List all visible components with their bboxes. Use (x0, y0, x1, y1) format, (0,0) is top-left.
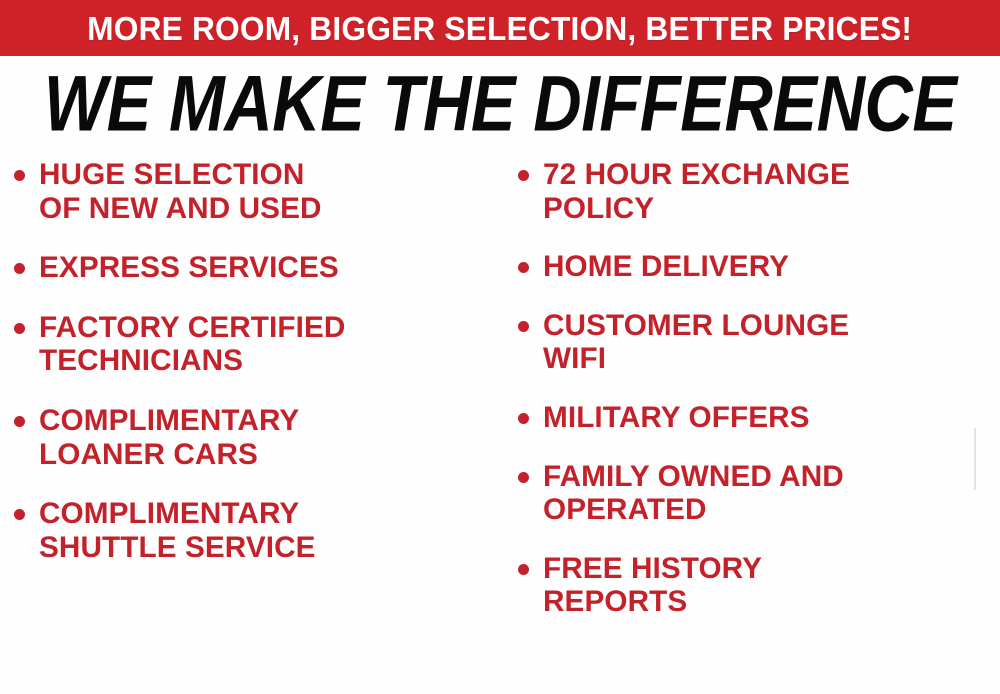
list-item-label: COMPLIMENTARY SHUTTLE SERVICE (39, 497, 495, 564)
bullet-dot-icon (14, 263, 25, 274)
bullet-dot-icon (14, 170, 25, 181)
benefits-column-left: HUGE SELECTION OF NEW AND USED EXPRESS S… (14, 158, 500, 694)
advertisement-root: MORE ROOM, BIGGER SELECTION, BETTER PRIC… (0, 0, 1000, 694)
bullet-dot-icon (14, 416, 25, 427)
bullet-dot-icon (518, 564, 529, 575)
benefits-column-right: 72 HOUR EXCHANGE POLICY HOME DELIVERY CU… (518, 158, 996, 694)
bullet-dot-icon (518, 472, 529, 483)
list-item: FACTORY CERTIFIED TECHNICIANS (14, 311, 500, 378)
bullet-dot-icon (14, 323, 25, 334)
list-item: HOME DELIVERY (518, 250, 996, 284)
list-item: COMPLIMENTARY LOANER CARS (14, 404, 500, 471)
list-item-label: FACTORY CERTIFIED TECHNICIANS (39, 311, 495, 378)
list-item-label: COMPLIMENTARY LOANER CARS (39, 404, 495, 471)
scan-artifact (974, 428, 976, 490)
bullet-dot-icon (14, 509, 25, 520)
list-item-label: 72 HOUR EXCHANGE POLICY (543, 158, 991, 225)
bullet-dot-icon (518, 321, 529, 332)
list-item: MILITARY OFFERS (518, 401, 996, 435)
benefits-columns: HUGE SELECTION OF NEW AND USED EXPRESS S… (0, 158, 1000, 694)
list-item-label: HOME DELIVERY (543, 250, 991, 284)
list-item-label: MILITARY OFFERS (543, 401, 991, 435)
promo-banner-text: MORE ROOM, BIGGER SELECTION, BETTER PRIC… (88, 12, 913, 45)
list-item: CUSTOMER LOUNGE WIFI (518, 309, 996, 376)
bullet-dot-icon (518, 413, 529, 424)
list-item: EXPRESS SERVICES (14, 251, 500, 285)
bullet-dot-icon (518, 170, 529, 181)
headline-container: WE MAKE THE DIFFERENCE (0, 66, 1000, 142)
list-item: HUGE SELECTION OF NEW AND USED (14, 158, 500, 225)
list-item: FREE HISTORY REPORTS (518, 552, 996, 619)
promo-banner: MORE ROOM, BIGGER SELECTION, BETTER PRIC… (0, 0, 1000, 56)
page-title: WE MAKE THE DIFFERENCE (44, 66, 957, 142)
list-item-label: EXPRESS SERVICES (39, 251, 495, 285)
bullet-dot-icon (518, 262, 529, 273)
list-item-label: HUGE SELECTION OF NEW AND USED (39, 158, 495, 225)
list-item: COMPLIMENTARY SHUTTLE SERVICE (14, 497, 500, 564)
list-item-label: FREE HISTORY REPORTS (543, 552, 991, 619)
list-item: FAMILY OWNED AND OPERATED (518, 460, 996, 527)
list-item-label: CUSTOMER LOUNGE WIFI (543, 309, 991, 376)
list-item-label: FAMILY OWNED AND OPERATED (543, 460, 991, 527)
list-item: 72 HOUR EXCHANGE POLICY (518, 158, 996, 225)
